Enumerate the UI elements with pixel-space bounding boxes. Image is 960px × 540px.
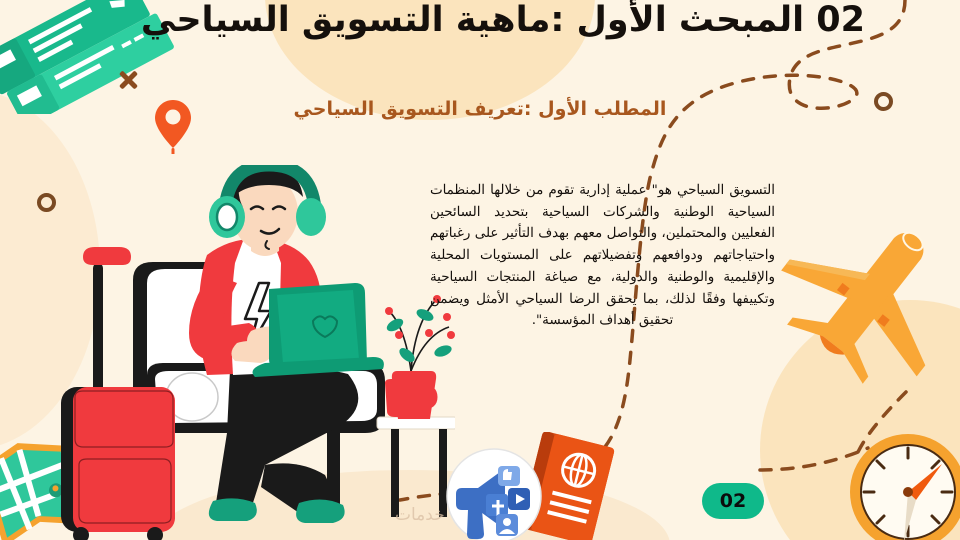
compass-icon <box>846 430 960 540</box>
page-number-label: 02 <box>720 490 746 512</box>
folded-map-icon <box>0 424 114 540</box>
page-title: 02 المبحث الأول :ماهية التسويق السياحي <box>105 4 865 37</box>
x-mark-icon <box>118 70 138 90</box>
airplane-icon <box>778 206 958 392</box>
passport-icon <box>512 432 622 540</box>
coffee-mug-icon <box>385 379 435 417</box>
circle-outline-icon-right <box>874 92 893 111</box>
circle-outline-icon-left <box>37 193 56 212</box>
slide-canvas: 02 المبحث الأول :ماهية التسويق السياحي ا… <box>0 0 960 540</box>
page-number-badge: 02 <box>702 483 764 519</box>
body-paragraph: التسويق السياحي هو" عملية إدارية تقوم من… <box>430 180 775 332</box>
megaphone-social-icon <box>446 448 542 540</box>
rolling-suitcase-icon <box>61 247 175 540</box>
background-blob-left <box>0 90 100 450</box>
map-pin-icon <box>153 98 193 154</box>
page-subtitle: المطلب الأول :تعريف التسويق السياحي <box>190 98 770 120</box>
background-blob-right <box>760 300 960 540</box>
watermark-text: خدمات <box>395 505 445 525</box>
person-with-laptop-illustration <box>55 165 455 540</box>
